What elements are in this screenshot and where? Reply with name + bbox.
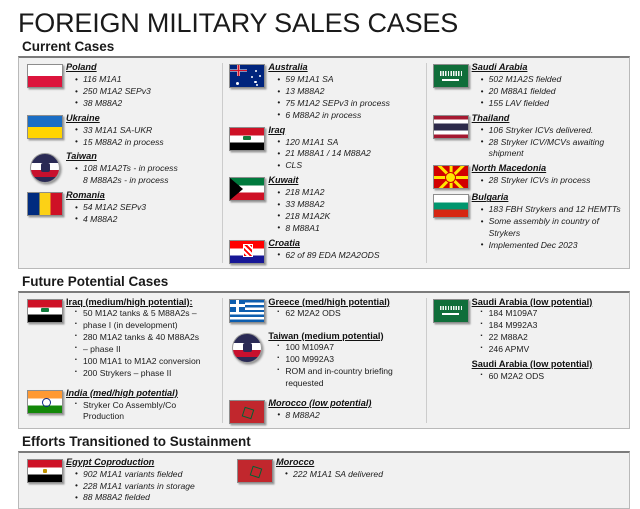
- bullet-list: 502 M1A2S fielded 20 M88A1 fielded 155 L…: [472, 74, 624, 110]
- country-name: Ukraine: [66, 113, 219, 125]
- list-item: 8 M88A1: [277, 223, 422, 235]
- entry-body: North Macedonia 28 Stryker ICVs in proce…: [472, 163, 624, 187]
- union-jack-canton: [230, 65, 247, 76]
- list-item: 116 M1A1: [75, 74, 219, 86]
- country-name: Egypt Coproduction: [66, 457, 228, 469]
- flag-slot: [24, 388, 66, 414]
- list-item: 20 M88A1 fielded: [481, 86, 624, 98]
- saudi-arabia-flag: [433, 299, 469, 323]
- list-item: 200 Strykers – phase II: [75, 368, 219, 380]
- list-item: 184 M992A3: [481, 320, 624, 332]
- flag-slot: [234, 457, 276, 483]
- section-efforts-transitioned: Efforts Transitioned to Sustainment Egyp…: [18, 434, 630, 509]
- entry-body: Iraq (medium/high potential): 50 M1A2 ta…: [66, 297, 219, 380]
- list-item: 100 M1A1 to M1A2 conversion: [75, 356, 219, 368]
- entry-body: Poland 116 M1A1 250 M1A2 SEPv3 38 M88A2: [66, 62, 219, 110]
- list-item: 33 M88A2: [277, 199, 422, 211]
- bullet-list: 60 M2A2 ODS: [472, 371, 624, 383]
- entry-body: Iraq 120 M1A1 SA 21 M88A1 / 14 M88A2 CLS: [268, 125, 422, 173]
- country-name: Bulgaria: [472, 192, 624, 204]
- country-name: North Macedonia: [472, 163, 624, 175]
- current-column-3: Saudi Arabia 502 M1A2S fielded 20 M88A1 …: [427, 62, 627, 263]
- list-item: 222 M1A1 SA delivered: [285, 469, 488, 481]
- list-item: 250 M1A2 SEPv3: [75, 86, 219, 98]
- bullet-list: 50 M1A2 tanks & 5 M88A2s – phase I (in d…: [66, 308, 219, 379]
- entry-body: Taiwan (medium potential) 100 M109A7 100…: [268, 331, 422, 390]
- list-item: 4 M88A2: [75, 214, 219, 226]
- entry-saudi-arabia-future-2[interactable]: Saudi Arabia (low potential) 60 M2A2 ODS: [430, 359, 624, 383]
- entry-greece[interactable]: Greece (med/high potential) 62 M2A2 ODS: [226, 297, 422, 323]
- entry-iraq[interactable]: Iraq 120 M1A1 SA 21 M88A1 / 14 M88A2 CLS: [226, 125, 422, 173]
- bullet-list: 62 of 89 EDA M2A2ODS: [268, 250, 422, 262]
- iraq-flag: [27, 299, 63, 323]
- morocco-flag: [229, 400, 265, 424]
- india-flag: [27, 390, 63, 414]
- future-column-3: Saudi Arabia (low potential) 184 M109A7 …: [427, 297, 627, 424]
- entry-morocco-future[interactable]: Morocco (low potential) 8 M88A2: [226, 398, 422, 424]
- entry-taiwan[interactable]: Taiwan 108 M1A2Ts - in process 8 M88A2s …: [24, 151, 219, 187]
- ukraine-flag: [27, 115, 63, 139]
- bulgaria-flag: [433, 194, 469, 218]
- list-item: 902 M1A1 variants fielded: [75, 469, 228, 481]
- greece-flag: [229, 299, 265, 323]
- bullet-list: 62 M2A2 ODS: [268, 308, 422, 320]
- entry-body: Saudi Arabia (low potential) 60 M2A2 ODS: [472, 359, 624, 383]
- section-heading-sustainment: Efforts Transitioned to Sustainment: [18, 434, 630, 451]
- flag-slot: [24, 62, 66, 88]
- section-current-cases: Current Cases Poland 116 M1A1 250 M1A2 S…: [18, 39, 630, 268]
- flag-slot: [226, 62, 268, 88]
- bullet-list: 184 M109A7 184 M992A3 22 M88A2 246 APMV: [472, 308, 624, 355]
- country-name: Saudi Arabia (low potential): [472, 297, 624, 309]
- bullet-list: 28 Stryker ICVs in process: [472, 175, 624, 187]
- flag-slot: [430, 163, 472, 189]
- entry-croatia[interactable]: Croatia 62 of 89 EDA M2A2ODS: [226, 238, 422, 264]
- bullet-list: 108 M1A2Ts - in process 8 M88A2s - in pr…: [66, 163, 219, 187]
- entry-body: Ukraine 33 M1A1 SA-UKR 15 M88A2 in proce…: [66, 113, 219, 149]
- star: [259, 75, 262, 78]
- panel-current-cases: Poland 116 M1A1 250 M1A2 SEPv3 38 M88A2 …: [18, 56, 630, 268]
- flag-slot: [226, 238, 268, 264]
- list-item: Some assembly in country of Strykers: [481, 216, 624, 240]
- country-name: Morocco: [276, 457, 488, 469]
- bullet-list: 116 M1A1 250 M1A2 SEPv3 38 M88A2: [66, 74, 219, 110]
- sun-disc: [446, 173, 455, 182]
- entry-australia[interactable]: Australia 59 M1A1 SA 13 M88A2 75 M1A2 SE…: [226, 62, 422, 121]
- morocco-flag: [237, 459, 273, 483]
- flag-slot: [226, 175, 268, 201]
- sustainment-column-1: Egypt Coproduction 902 M1A1 variants fie…: [21, 457, 231, 505]
- north-macedonia-flag: [433, 165, 469, 189]
- flag-slot: [430, 113, 472, 139]
- star: [251, 76, 253, 78]
- flag-slot: [226, 297, 268, 323]
- bullet-list: 54 M1A2 SEPv3 4 M88A2: [66, 202, 219, 226]
- shahada-script: [440, 306, 462, 311]
- list-item: ROM and in-country briefing requested: [277, 366, 422, 390]
- bullet-list: 59 M1A1 SA 13 M88A2 75 M1A2 SEPv3 in pro…: [268, 74, 422, 121]
- list-item: 22 M88A2: [481, 332, 624, 344]
- list-item: 106 Stryker ICVs delivered.: [481, 125, 624, 137]
- star: [254, 81, 257, 84]
- list-item: 100 M992A3: [277, 354, 422, 366]
- list-item: 280 M1A2 tanks & 40 M88A2s: [75, 332, 219, 344]
- flag-slot: [24, 457, 66, 483]
- entry-body: Romania 54 M1A2 SEPv3 4 M88A2: [66, 190, 219, 226]
- entry-saudi-arabia-future-1[interactable]: Saudi Arabia (low potential) 184 M109A7 …: [430, 297, 624, 356]
- taiwan-emblem: [232, 333, 262, 363]
- page-title: FOREIGN MILITARY SALES CASES: [0, 0, 640, 39]
- list-item: 184 M109A7: [481, 308, 624, 320]
- taiwan-emblem: [30, 153, 60, 183]
- list-item: 6 M88A2 in process: [277, 110, 422, 122]
- entry-body: Morocco 222 M1A1 SA delivered: [276, 457, 488, 481]
- sustainment-columns: Egypt Coproduction 902 M1A1 variants fie…: [21, 457, 491, 505]
- entry-romania[interactable]: Romania 54 M1A2 SEPv3 4 M88A2: [24, 190, 219, 226]
- list-item: 62 M2A2 ODS: [277, 308, 422, 320]
- country-name: Iraq: [268, 125, 422, 137]
- list-item: 21 M88A1 / 14 M88A2: [277, 148, 422, 160]
- sword: [442, 79, 460, 81]
- flag-slot: [24, 190, 66, 216]
- list-item: 60 M2A2 ODS: [481, 371, 624, 383]
- sword: [442, 313, 460, 315]
- list-item: CLS: [277, 160, 422, 172]
- flag-slot: [226, 398, 268, 424]
- egypt-flag: [27, 459, 63, 483]
- flag-slot: [430, 359, 472, 361]
- country-name: Thailand: [472, 113, 624, 125]
- flag-slot: [430, 192, 472, 218]
- current-column-1: Poland 116 M1A1 250 M1A2 SEPv3 38 M88A2 …: [21, 62, 222, 263]
- list-item-continuation: shipment: [481, 148, 624, 160]
- current-column-2: Australia 59 M1A1 SA 13 M88A2 75 M1A2 SE…: [223, 62, 425, 263]
- list-item: Stryker Co Assembly/Co Production: [75, 400, 219, 424]
- list-item: 120 M1A1 SA: [277, 137, 422, 149]
- list-item: 88 M88A2 fielded: [75, 492, 228, 504]
- list-item: 59 M1A1 SA: [277, 74, 422, 86]
- flag-slot: [226, 125, 268, 151]
- list-item-continuation: phase I (in development): [75, 320, 219, 332]
- saudi-arabia-flag: [433, 64, 469, 88]
- country-name: Taiwan (medium potential): [268, 331, 422, 343]
- country-name: Iraq (medium/high potential):: [66, 297, 219, 309]
- future-column-2: Greece (med/high potential) 62 M2A2 ODS …: [223, 297, 425, 424]
- bullet-list: 33 M1A1 SA-UKR 15 M88A2 in process: [66, 125, 219, 149]
- australia-flag: [229, 64, 265, 88]
- entry-thailand[interactable]: Thailand 106 Stryker ICVs delivered. 28 …: [430, 113, 624, 161]
- bullet-list: 183 FBH Strykers and 12 HEMTTs Some asse…: [472, 204, 624, 251]
- sustainment-column-2: Morocco 222 M1A1 SA delivered: [231, 457, 491, 505]
- iraq-flag: [229, 127, 265, 151]
- greek-cross-canton: [230, 300, 245, 312]
- flag-slot: [24, 297, 66, 323]
- entry-body: Australia 59 M1A1 SA 13 M88A2 75 M1A2 SE…: [268, 62, 422, 121]
- list-item: 62 of 89 EDA M2A2ODS: [277, 250, 422, 262]
- list-item: 15 M88A2 in process: [75, 137, 219, 149]
- entry-egypt[interactable]: Egypt Coproduction 902 M1A1 variants fie…: [24, 457, 228, 505]
- romania-flag: [27, 192, 63, 216]
- kuwait-flag: [229, 177, 265, 201]
- list-item: 75 M1A2 SEPv3 in process: [277, 98, 422, 110]
- list-item: 100 M109A7: [277, 342, 422, 354]
- entry-body: Croatia 62 of 89 EDA M2A2ODS: [268, 238, 422, 262]
- flag-slot: [24, 113, 66, 139]
- entry-india[interactable]: India (med/high potential) Stryker Co As…: [24, 388, 219, 424]
- entry-body: Taiwan 108 M1A2Ts - in process 8 M88A2s …: [66, 151, 219, 187]
- poland-flag: [27, 64, 63, 88]
- list-item: 38 M88A2: [75, 98, 219, 110]
- entry-bulgaria[interactable]: Bulgaria 183 FBH Strykers and 12 HEMTTs …: [430, 192, 624, 251]
- list-item: 8 M88A2: [277, 410, 422, 422]
- country-name: Poland: [66, 62, 219, 74]
- country-name: Romania: [66, 190, 219, 202]
- country-name: Croatia: [268, 238, 422, 250]
- list-item: 54 M1A2 SEPv3: [75, 202, 219, 214]
- entry-body: India (med/high potential) Stryker Co As…: [66, 388, 219, 424]
- flag-slot: [430, 297, 472, 323]
- country-name: Australia: [268, 62, 422, 74]
- country-name: India (med/high potential): [66, 388, 219, 400]
- entry-saudi-arabia[interactable]: Saudi Arabia 502 M1A2S fielded 20 M88A1 …: [430, 62, 624, 110]
- list-item-continuation: 8 M88A2s - in process: [75, 175, 219, 187]
- thailand-flag: [433, 115, 469, 139]
- entry-kuwait[interactable]: Kuwait 218 M1A2 33 M88A2 218 M1A2K 8 M88…: [226, 175, 422, 234]
- entry-body: Saudi Arabia (low potential) 184 M109A7 …: [472, 297, 624, 356]
- list-item: 218 M1A2: [277, 187, 422, 199]
- list-item: Implemented Dec 2023: [481, 240, 624, 252]
- list-item: 108 M1A2Ts - in process: [75, 163, 219, 175]
- slide-root: FOREIGN MILITARY SALES CASES Current Cas…: [0, 0, 640, 430]
- entry-body: Greece (med/high potential) 62 M2A2 ODS: [268, 297, 422, 321]
- country-name: Greece (med/high potential): [268, 297, 422, 309]
- entry-body: Kuwait 218 M1A2 33 M88A2 218 M1A2K 8 M88…: [268, 175, 422, 234]
- entry-morocco-sustainment[interactable]: Morocco 222 M1A1 SA delivered: [234, 457, 488, 483]
- list-item: 502 M1A2S fielded: [481, 74, 624, 86]
- bullet-list: 222 M1A1 SA delivered: [276, 469, 488, 481]
- country-name: Morocco (low potential): [268, 398, 422, 410]
- bullet-list: 100 M109A7 100 M992A3 ROM and in-country…: [268, 342, 422, 389]
- section-heading-future: Future Potential Cases: [18, 274, 630, 291]
- star: [256, 84, 258, 86]
- star: [236, 82, 239, 85]
- bullet-list: 218 M1A2 33 M88A2 218 M1A2K 8 M88A1: [268, 187, 422, 234]
- country-name: Saudi Arabia (low potential): [472, 359, 624, 371]
- entry-body: Morocco (low potential) 8 M88A2: [268, 398, 422, 422]
- entry-taiwan-future[interactable]: Taiwan (medium potential) 100 M109A7 100…: [226, 331, 422, 390]
- bullet-list: 902 M1A1 variants fielded 228 M1A1 varia…: [66, 469, 228, 505]
- country-name: Saudi Arabia: [472, 62, 624, 74]
- section-heading-current: Current Cases: [18, 39, 630, 56]
- croatia-flag: [229, 240, 265, 264]
- list-item: 13 M88A2: [277, 86, 422, 98]
- list-item: 155 LAV fielded: [481, 98, 624, 110]
- entry-body: Bulgaria 183 FBH Strykers and 12 HEMTTs …: [472, 192, 624, 251]
- bullet-list: Stryker Co Assembly/Co Production: [66, 400, 219, 424]
- entry-body: Egypt Coproduction 902 M1A1 variants fie…: [66, 457, 228, 505]
- list-item: 228 M1A1 variants in storage: [75, 481, 228, 493]
- flag-slot: [430, 62, 472, 88]
- list-item: 183 FBH Strykers and 12 HEMTTs: [481, 204, 624, 216]
- entry-ukraine[interactable]: Ukraine 33 M1A1 SA-UKR 15 M88A2 in proce…: [24, 113, 219, 149]
- list-item: 28 Stryker ICV/MCVs awaiting: [481, 137, 624, 149]
- star: [255, 70, 258, 73]
- flag-slot: [226, 331, 268, 363]
- entry-body: Saudi Arabia 502 M1A2S fielded 20 M88A1 …: [472, 62, 624, 110]
- entry-body: Thailand 106 Stryker ICVs delivered. 28 …: [472, 113, 624, 161]
- shahada-script: [440, 71, 462, 76]
- section-future-potential-cases: Future Potential Cases Iraq (medium/high…: [18, 274, 630, 429]
- entry-iraq-future[interactable]: Iraq (medium/high potential): 50 M1A2 ta…: [24, 297, 219, 380]
- list-item: 218 M1A2K: [277, 211, 422, 223]
- flag-slot: [24, 151, 66, 183]
- panel-efforts-transitioned: Egypt Coproduction 902 M1A1 variants fie…: [18, 451, 630, 509]
- entry-poland[interactable]: Poland 116 M1A1 250 M1A2 SEPv3 38 M88A2: [24, 62, 219, 110]
- bullet-list: 106 Stryker ICVs delivered. 28 Stryker I…: [472, 125, 624, 161]
- entry-north-macedonia[interactable]: North Macedonia 28 Stryker ICVs in proce…: [430, 163, 624, 189]
- list-item-continuation: – phase II: [75, 344, 219, 356]
- country-name: Kuwait: [268, 175, 422, 187]
- bullet-list: 8 M88A2: [268, 410, 422, 422]
- bullet-list: 120 M1A1 SA 21 M88A1 / 14 M88A2 CLS: [268, 137, 422, 173]
- list-item: 33 M1A1 SA-UKR: [75, 125, 219, 137]
- country-name: Taiwan: [66, 151, 219, 163]
- panel-future-potential-cases: Iraq (medium/high potential): 50 M1A2 ta…: [18, 291, 630, 429]
- future-column-1: Iraq (medium/high potential): 50 M1A2 ta…: [21, 297, 222, 424]
- list-item: 50 M1A2 tanks & 5 M88A2s –: [75, 308, 219, 320]
- list-item: 246 APMV: [481, 344, 624, 356]
- list-item: 28 Stryker ICVs in process: [481, 175, 624, 187]
